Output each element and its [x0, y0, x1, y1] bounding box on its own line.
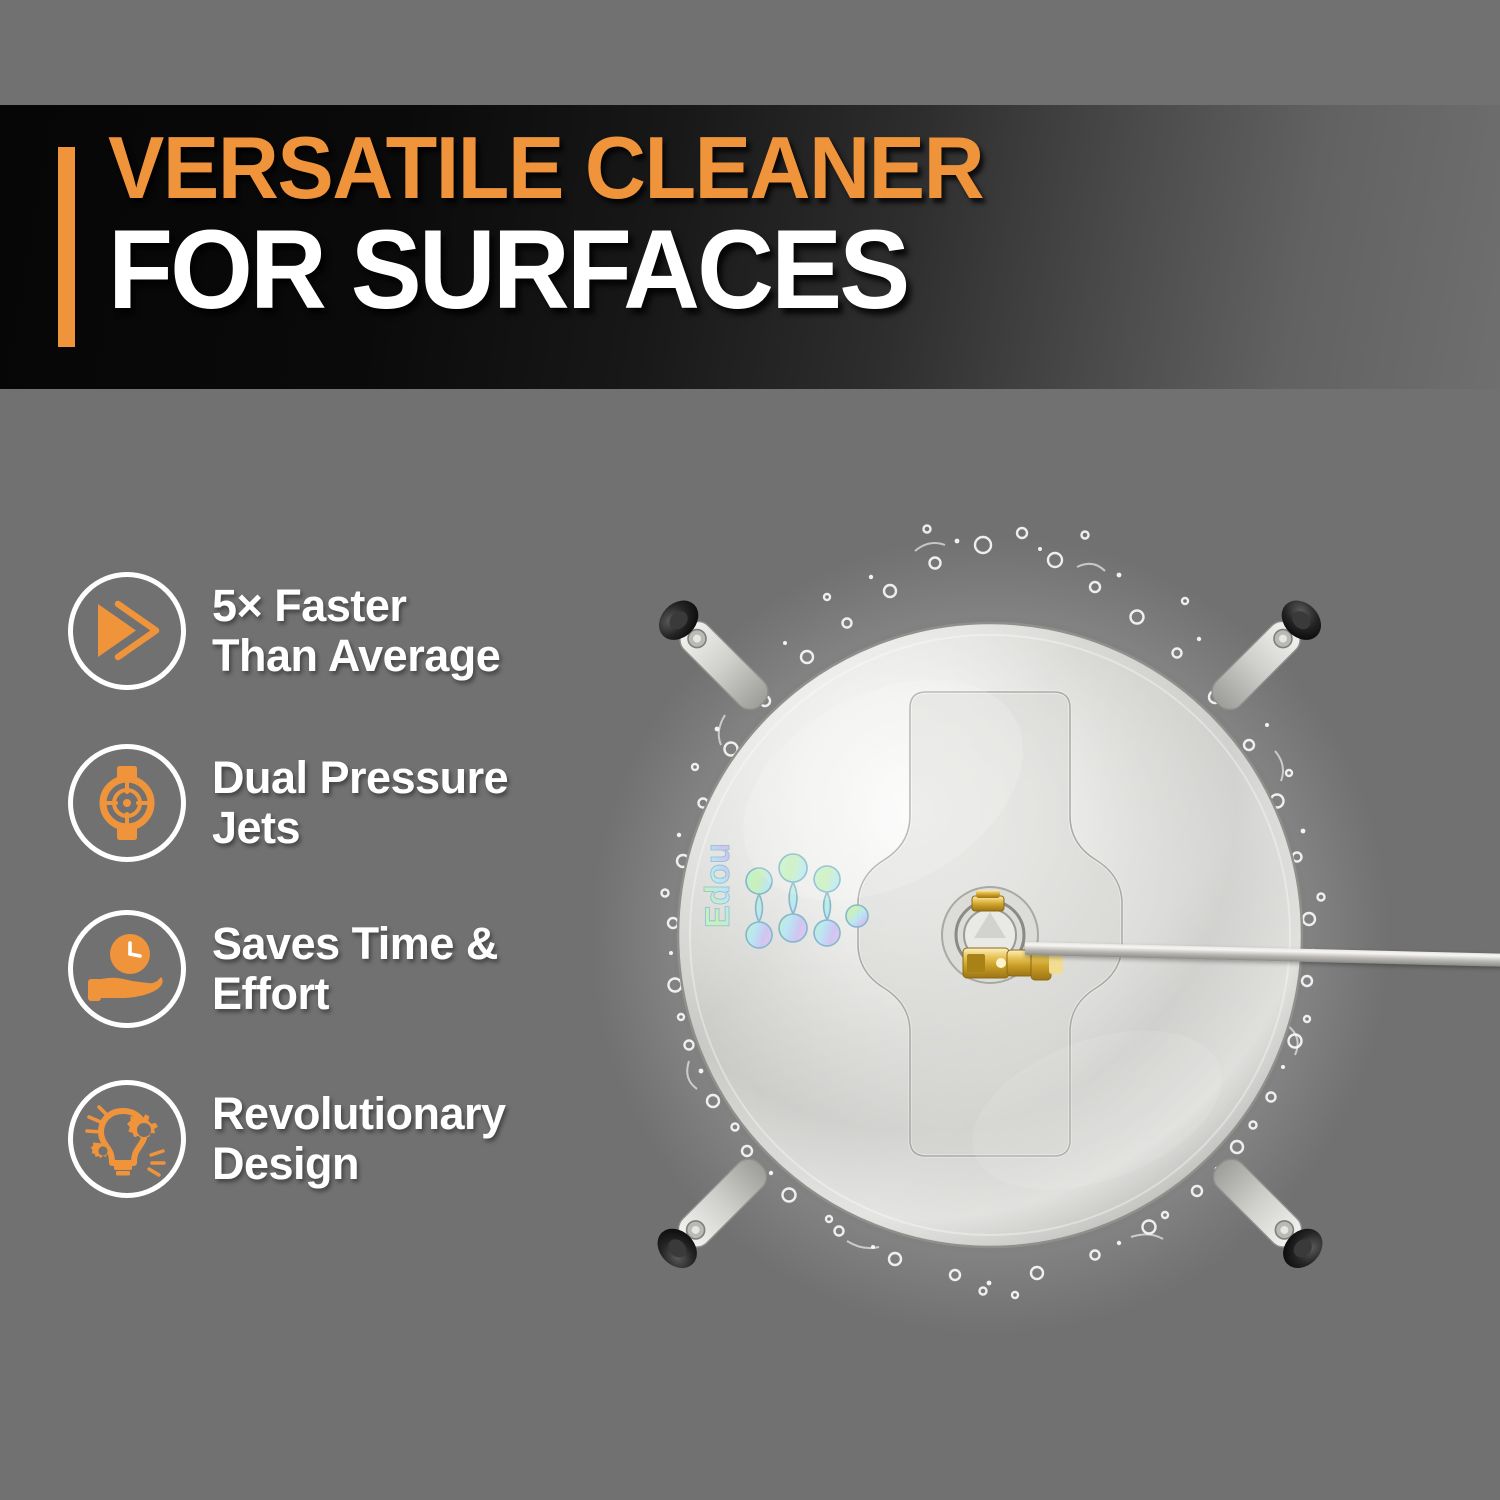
page-title-line1: VERSATILE CLEANER [108, 125, 1394, 211]
surface-cleaner-disc: Edou [645, 590, 1335, 1280]
brand-logo-text: Edou [699, 843, 737, 928]
accent-bar [58, 147, 75, 347]
feature-item: Revolutionary Design [68, 1080, 668, 1198]
feature-item: 5× Faster Than Average [68, 572, 668, 690]
banner-text-block: VERSATILE CLEANER FOR SURFACES [108, 125, 1448, 325]
lightbulb-gears-icon [68, 1080, 186, 1198]
hand-clock-icon [68, 910, 186, 1028]
feature-label: Revolutionary Design [212, 1089, 506, 1190]
product-image: Edou [585, 505, 1500, 1385]
header-banner: VERSATILE CLEANER FOR SURFACES [0, 105, 1500, 389]
fast-forward-icon [68, 572, 186, 690]
feature-label: Dual Pressure Jets [212, 753, 508, 854]
feature-label: 5× Faster Than Average [212, 581, 500, 682]
pressure-gauge-icon [68, 744, 186, 862]
feature-label: Saves Time & Effort [212, 919, 498, 1020]
marketing-image: VERSATILE CLEANER FOR SURFACES 5× Faster… [0, 0, 1500, 1500]
feature-item: Saves Time & Effort [68, 910, 668, 1028]
page-title-line2: FOR SURFACES [108, 215, 1381, 325]
feature-item: Dual Pressure Jets [68, 744, 668, 862]
